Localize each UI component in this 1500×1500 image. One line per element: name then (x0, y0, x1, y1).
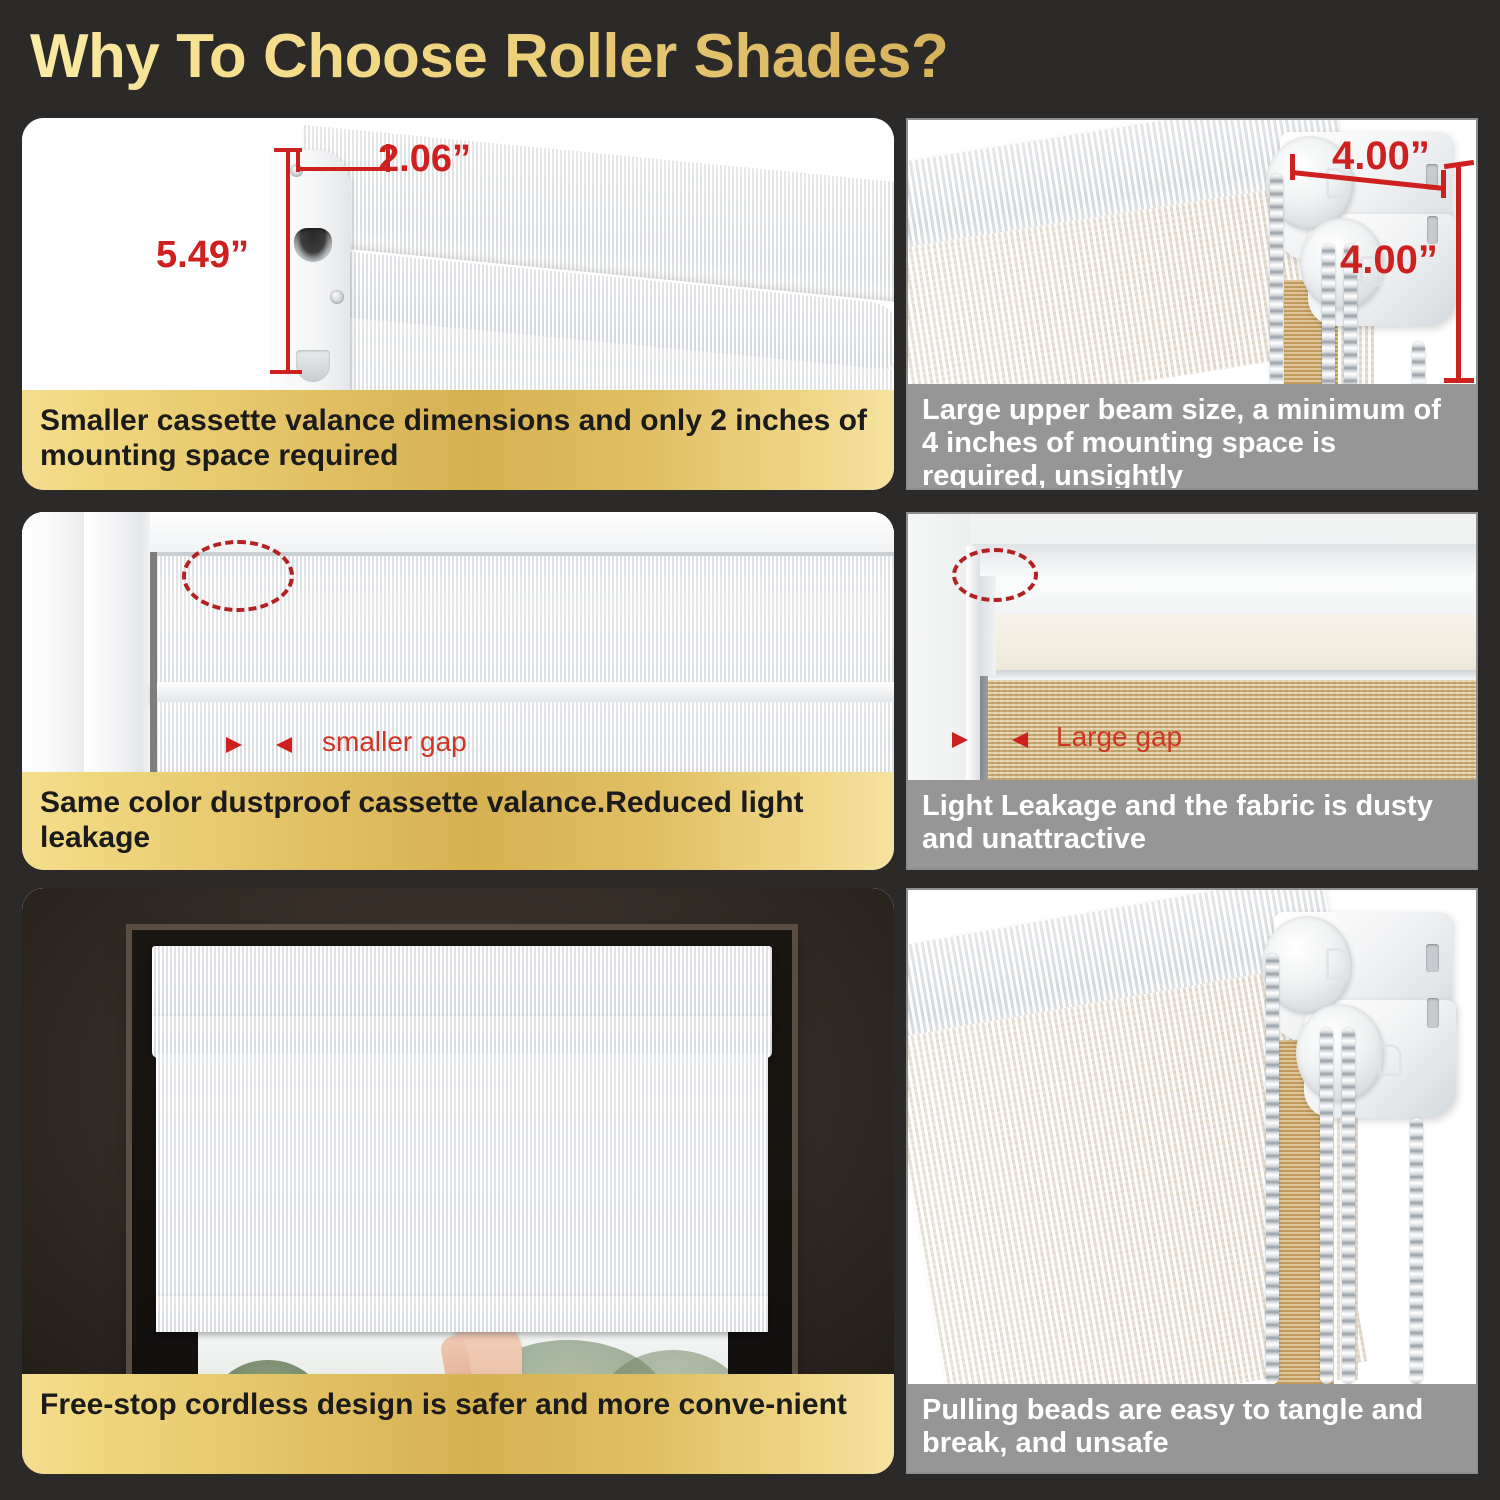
height-dimension-tick-bottom (270, 370, 302, 374)
panel-4-photo: Large gap (908, 514, 1476, 782)
panel-5-photo (22, 888, 894, 1374)
panel-pulling-beads: Pulling beads are easy to tangle and bre… (906, 888, 1478, 1474)
gap-arrow-left-icon (226, 737, 242, 753)
panel-smaller-cassette: 2.06” 5.49” Smaller cassette valance dim… (22, 118, 894, 490)
pull-bead-chain (1342, 1028, 1355, 1384)
panel-2-caption: Large upper beam size, a minimum of 4 in… (908, 384, 1476, 488)
panel-free-stop-cordless: Free-stop cordless design is safer and m… (22, 888, 894, 1474)
panel-2-photo: 4.00” 4.00” (908, 120, 1476, 390)
roller-beam-edge (972, 670, 1476, 680)
panel-light-leakage: Large gap Light Leakage and the fabric i… (906, 512, 1478, 870)
roller-bracket-disc-lower (1296, 1004, 1384, 1102)
beam-width-tick-right (1441, 170, 1446, 198)
pull-bead-chain (1266, 954, 1279, 1384)
bracket-embossed-arrow-icon (1378, 1044, 1402, 1076)
window-casing (22, 512, 88, 788)
pull-bead-chain (1322, 244, 1335, 390)
panel-1-photo: 2.06” 5.49” (22, 118, 894, 390)
roller-beam-body (972, 614, 1476, 672)
pull-bead-chain (1270, 174, 1283, 390)
panel-6-photo (908, 890, 1476, 1388)
width-dimension-label: 2.06” (378, 138, 471, 181)
panel-3-caption: Same color dustproof cassette valance.Re… (22, 772, 894, 870)
bracket-mounting-hole (1426, 944, 1439, 972)
cassette-bottom-rail (150, 682, 894, 704)
roller-shade-fabric (156, 1054, 768, 1304)
gap-arrow-right-icon (276, 737, 292, 753)
cassette-valance-illustration (272, 146, 894, 390)
pull-bead-chain (1410, 1118, 1423, 1384)
bracket-screw-icon (330, 290, 344, 304)
panel-6-caption: Pulling beads are easy to tangle and bre… (908, 1384, 1476, 1472)
gap-arrow-left-icon (952, 732, 968, 748)
beam-height-dimension-label: 4.00” (1340, 238, 1438, 283)
beam-width-tick-left (1290, 154, 1295, 180)
panel-4-caption: Light Leakage and the fabric is dusty an… (908, 780, 1476, 868)
page-title: Why To Choose Roller Shades? (30, 22, 1130, 92)
width-dimension-line (298, 167, 390, 171)
panel-large-upper-beam: 4.00” 4.00” Large upper beam size, a min… (906, 118, 1478, 490)
recess-shadow-right (728, 1328, 788, 1374)
panel-1-caption: Smaller cassette valance dimensions and … (22, 390, 894, 490)
bracket-slot-icon (294, 228, 332, 262)
panel-5-caption: Free-stop cordless design is safer and m… (22, 1374, 894, 1474)
height-dimension-label: 5.49” (156, 234, 249, 277)
infographic-page: Why To Choose Roller Shades? 2.06” (0, 0, 1500, 1500)
gap-arrow-right-icon (1012, 732, 1028, 748)
window-jamb (84, 512, 156, 788)
beam-width-dimension-label: 4.00” (1332, 134, 1430, 179)
pull-bead-chain (1412, 342, 1425, 390)
panel-3-photo: smaller gap (22, 512, 894, 788)
highlight-ellipse (952, 548, 1038, 602)
pull-bead-chain (1320, 1028, 1333, 1384)
beam-height-dimension-line (1456, 164, 1461, 382)
cassette-front-lip (152, 1016, 772, 1058)
bracket-mounting-hole (1427, 998, 1439, 1028)
bracket-embossed-arrow-icon (1326, 948, 1350, 980)
smaller-gap-label: smaller gap (322, 726, 467, 758)
panel-dustproof-cassette: smaller gap Same color dustproof cassett… (22, 512, 894, 870)
shade-hem-bar (156, 1296, 768, 1332)
highlight-ellipse (182, 540, 294, 612)
cassette-valance (152, 946, 772, 1024)
beam-height-tick-bottom (1444, 378, 1474, 383)
height-dimension-line (286, 150, 290, 374)
bracket-pin-icon (296, 350, 330, 382)
large-gap-label: Large gap (1056, 721, 1182, 753)
cassette-end-bracket (272, 150, 350, 390)
height-dimension-tick-top (274, 148, 302, 152)
light-gap-strip (150, 552, 157, 788)
tree-foliage (208, 1360, 328, 1374)
recess-shadow-left (138, 1328, 196, 1374)
roller-upper-beam (972, 544, 1476, 622)
